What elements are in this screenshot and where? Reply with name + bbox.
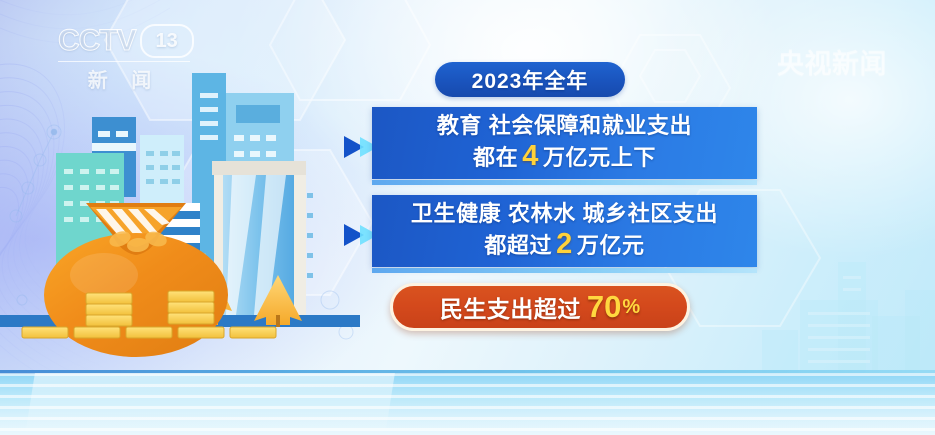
- stat-suffix: 万亿元上下: [543, 145, 656, 170]
- stat-row: 教育 社会保障和就业支出 都在4万亿元上下: [345, 107, 765, 185]
- stat-line-2: 都在4万亿元上下: [473, 140, 656, 172]
- stat-underline: [372, 180, 757, 185]
- page-title-label: 2023年全年: [472, 65, 589, 95]
- stat-underline: [372, 268, 757, 273]
- highlight-banner-unit: %: [621, 296, 640, 319]
- cctv-logo-text: CCTV: [58, 26, 136, 56]
- stat-line-1: 教育 社会保障和就业支出: [437, 114, 692, 139]
- ground-reflection: [25, 373, 395, 435]
- stat-prefix: 都在: [473, 145, 518, 170]
- highlight-banner-value: 70: [581, 289, 621, 325]
- stat-line-1: 卫生健康 农林水 城乡社区支出: [411, 202, 718, 227]
- content-column: 2023年全年 教育 社会保障和就业支出 都在4万亿元上下 卫生: [345, 62, 765, 331]
- stat-line-2: 都超过2万亿元: [484, 228, 644, 260]
- page-title: 2023年全年: [435, 62, 625, 97]
- highlight-banner: 民生支出超过70%: [390, 283, 690, 331]
- infographic-stage: CCTV 13 新 闻 央视新闻 2023年全年 教育 社会保障和就业支出 都在…: [0, 0, 935, 435]
- finance-illustration: [0, 53, 360, 383]
- stat-box: 教育 社会保障和就业支出 都在4万亿元上下: [372, 107, 757, 179]
- stat-prefix: 都超过: [484, 233, 552, 258]
- stat-suffix: 万亿元: [577, 233, 645, 258]
- highlight-banner-text: 民生支出超过: [440, 290, 581, 324]
- stat-highlight-number: 2: [552, 228, 577, 260]
- stat-row: 卫生健康 农林水 城乡社区支出 都超过2万亿元: [345, 195, 765, 273]
- stat-highlight-number: 4: [518, 140, 543, 172]
- stat-box: 卫生健康 农林水 城乡社区支出 都超过2万亿元: [372, 195, 757, 267]
